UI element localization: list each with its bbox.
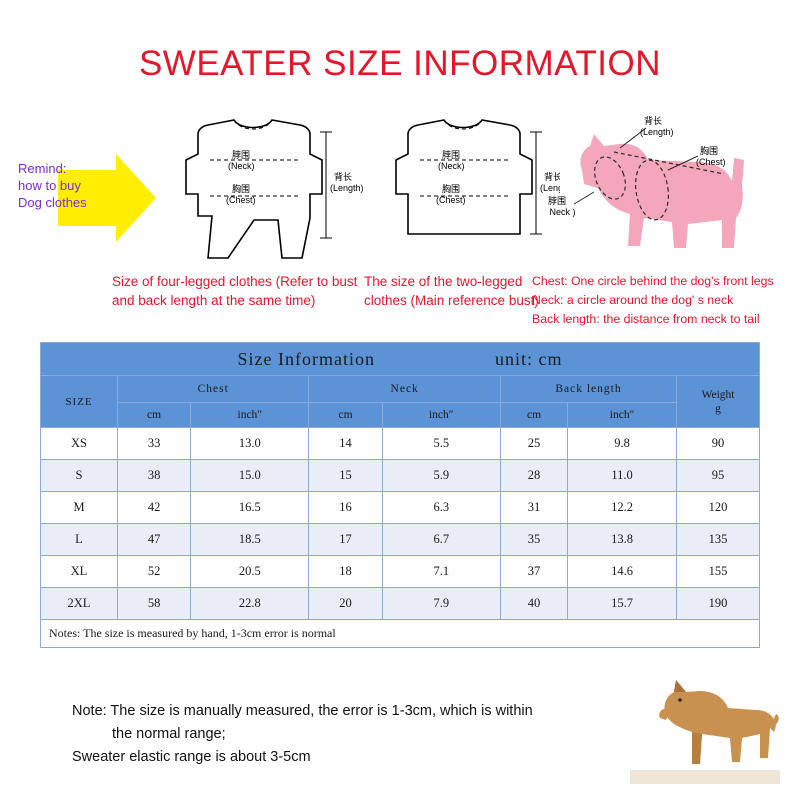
cell-neck-inch: 6.7 xyxy=(382,524,500,556)
cell-chest-cm: 38 xyxy=(118,460,191,492)
table-title-cell: Size Information unit: cm xyxy=(41,343,760,376)
cell-back-inch: 11.0 xyxy=(568,460,677,492)
dog-chest-cn-label: 胸围 xyxy=(700,145,718,156)
cell-chest-cm: 58 xyxy=(118,588,191,620)
bottom-note: Note: The size is manually measured, the… xyxy=(72,700,632,769)
cell-neck-cm: 16 xyxy=(309,492,382,524)
cell-size: XL xyxy=(41,556,118,588)
caption-dog-neck: Neck: a circle around the dog' s neck xyxy=(532,291,800,310)
two-legged-chest-en-label: (Chest) xyxy=(436,195,466,205)
cell-weight: 155 xyxy=(677,556,760,588)
cell-size: S xyxy=(41,460,118,492)
subheader-back-cm: cm xyxy=(500,403,567,428)
remind-text: Remind: how to buy Dog clothes xyxy=(18,160,87,211)
four-legged-chest-en-label: (Chest) xyxy=(226,195,256,205)
caption-dog-measure: Chest: One circle behind the dog's front… xyxy=(532,272,800,329)
header-weight-line1: Weight xyxy=(678,388,758,402)
dog-length-cn-label: 背长 xyxy=(644,115,662,126)
four-legged-neck-en-label: (Neck) xyxy=(228,161,255,171)
subheader-back-inch: inch″ xyxy=(568,403,677,428)
dog-length-en-label: (Length) xyxy=(640,127,674,137)
cell-neck-inch: 7.1 xyxy=(382,556,500,588)
table-title-text: Size Information xyxy=(238,349,375,370)
table-row: M 42 16.5 16 6.3 31 12.2 120 xyxy=(41,492,760,524)
bottom-note-line-1: Note: The size is manually measured, the… xyxy=(72,700,632,723)
cell-back-inch: 9.8 xyxy=(568,428,677,460)
table-row: 2XL 58 22.8 20 7.9 40 15.7 190 xyxy=(41,588,760,620)
remind-line-1: Remind: xyxy=(18,160,87,177)
caption-four-legged: Size of four-legged clothes (Refer to bu… xyxy=(112,272,362,310)
cell-neck-inch: 5.9 xyxy=(382,460,500,492)
cell-chest-inch: 16.5 xyxy=(191,492,309,524)
cell-weight: 190 xyxy=(677,588,760,620)
cell-back-cm: 25 xyxy=(500,428,567,460)
cell-back-inch: 14.6 xyxy=(568,556,677,588)
dog-neck-cn-label: 脖围 xyxy=(548,195,566,206)
caption-dog-back: Back length: the distance from neck to t… xyxy=(532,310,800,329)
caption-dog-chest: Chest: One circle behind the dog's front… xyxy=(532,272,800,291)
dog-chest-en-label: (Chest) xyxy=(696,157,726,167)
cell-chest-inch: 20.5 xyxy=(191,556,309,588)
cell-size: XS xyxy=(41,428,118,460)
dog-body-shape xyxy=(580,134,744,248)
cell-back-inch: 15.7 xyxy=(568,588,677,620)
cell-chest-cm: 42 xyxy=(118,492,191,524)
size-information-table: Size Information unit: cm SIZE Chest Nec… xyxy=(40,342,760,648)
remind-line-2: how to buy xyxy=(18,177,87,194)
cell-chest-cm: 47 xyxy=(118,524,191,556)
header-weight: Weight g xyxy=(677,376,760,428)
subheader-chest-cm: cm xyxy=(118,403,191,428)
cell-chest-cm: 52 xyxy=(118,556,191,588)
cell-chest-inch: 18.5 xyxy=(191,524,309,556)
bottom-note-line-2: the normal range; xyxy=(72,723,632,746)
table-row: XS 33 13.0 14 5.5 25 9.8 90 xyxy=(41,428,760,460)
cell-weight: 135 xyxy=(677,524,760,556)
cell-size: M xyxy=(41,492,118,524)
cell-neck-cm: 20 xyxy=(309,588,382,620)
caption-two-legged: The size of the two-legged clothes (Main… xyxy=(364,272,560,310)
cell-size: L xyxy=(41,524,118,556)
cell-back-cm: 40 xyxy=(500,588,567,620)
cell-neck-cm: 14 xyxy=(309,428,382,460)
table-unit-text: unit: cm xyxy=(495,349,563,370)
page-title: SWEATER SIZE INFORMATION xyxy=(0,44,800,84)
cell-neck-inch: 7.9 xyxy=(382,588,500,620)
bottom-note-line-3: Sweater elastic range is about 3-5cm xyxy=(72,746,632,769)
four-legged-chest-cn-label: 胸围 xyxy=(232,183,250,194)
subheader-chest-inch: inch″ xyxy=(191,403,309,428)
dog-neck-en-label: ( Neck ) xyxy=(548,207,576,217)
subheader-neck-cm: cm xyxy=(309,403,382,428)
table-sub-header-row: cm inch″ cm inch″ cm inch″ xyxy=(41,403,760,428)
two-legged-garment-diagram: 脖围 (Neck) 胸围 (Chest) 背长 (Length) xyxy=(360,108,560,268)
table-title-row: Size Information unit: cm xyxy=(41,343,760,376)
cell-back-cm: 35 xyxy=(500,524,567,556)
cell-back-cm: 37 xyxy=(500,556,567,588)
cell-back-inch: 13.8 xyxy=(568,524,677,556)
two-legged-neck-en-label: (Neck) xyxy=(438,161,465,171)
two-legged-neck-cn-label: 脖围 xyxy=(442,149,460,160)
header-neck: Neck xyxy=(309,376,500,403)
remind-line-3: Dog clothes xyxy=(18,194,87,211)
cell-neck-cm: 18 xyxy=(309,556,382,588)
cell-weight: 90 xyxy=(677,428,760,460)
four-legged-garment-diagram: 脖围 (Neck) 胸围 (Chest) 背长 (Length) xyxy=(150,108,370,268)
table-row: XL 52 20.5 18 7.1 37 14.6 155 xyxy=(41,556,760,588)
table-group-header-row: SIZE Chest Neck Back length Weight g xyxy=(41,376,760,403)
subheader-neck-inch: inch″ xyxy=(382,403,500,428)
cell-chest-inch: 15.0 xyxy=(191,460,309,492)
remind-callout: Remind: how to buy Dog clothes xyxy=(18,148,158,248)
cell-neck-inch: 5.5 xyxy=(382,428,500,460)
header-back-length: Back length xyxy=(500,376,676,403)
cell-chest-inch: 13.0 xyxy=(191,428,309,460)
cell-weight: 95 xyxy=(677,460,760,492)
cell-back-cm: 31 xyxy=(500,492,567,524)
cell-weight: 120 xyxy=(677,492,760,524)
table-row: S 38 15.0 15 5.9 28 11.0 95 xyxy=(41,460,760,492)
four-legged-length-cn-label: 背长 xyxy=(334,171,352,182)
cell-size: 2XL xyxy=(41,588,118,620)
cell-neck-cm: 15 xyxy=(309,460,382,492)
header-chest: Chest xyxy=(118,376,309,403)
two-legged-chest-cn-label: 胸围 xyxy=(442,183,460,194)
header-size: SIZE xyxy=(41,376,118,428)
cell-neck-cm: 17 xyxy=(309,524,382,556)
four-legged-length-en-label: (Length) xyxy=(330,183,364,193)
cell-back-inch: 12.2 xyxy=(568,492,677,524)
cell-chest-inch: 22.8 xyxy=(191,588,309,620)
four-legged-neck-cn-label: 脖围 xyxy=(232,149,250,160)
dog-measurement-diagram: 背长 (Length) 胸围 (Chest) 脖围 ( Neck ) xyxy=(548,112,778,272)
cell-neck-inch: 6.3 xyxy=(382,492,500,524)
table-notes-row: Notes: The size is measured by hand, 1-3… xyxy=(41,620,760,648)
dog-photo xyxy=(630,672,780,784)
header-weight-line2: g xyxy=(678,402,758,416)
table-row: L 47 18.5 17 6.7 35 13.8 135 xyxy=(41,524,760,556)
cell-chest-cm: 33 xyxy=(118,428,191,460)
table-notes: Notes: The size is measured by hand, 1-3… xyxy=(41,620,760,648)
cell-back-cm: 28 xyxy=(500,460,567,492)
